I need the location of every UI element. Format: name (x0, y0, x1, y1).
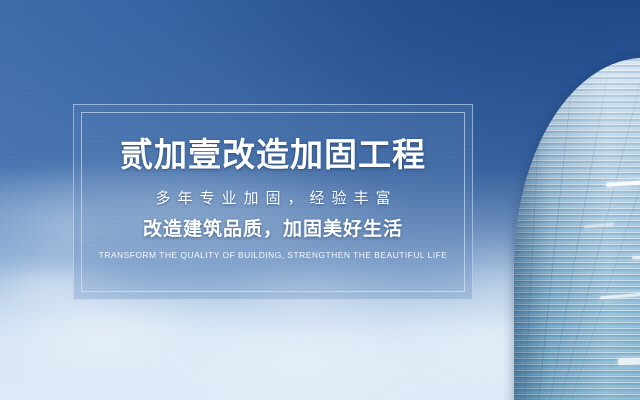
subtitle-text: 多年专业加固，经验丰富 (74, 189, 472, 209)
page-title: 贰加壹改造加固工程 (74, 135, 472, 175)
hero-banner: 贰加壹改造加固工程 多年专业加固，经验丰富 改造建筑品质，加固美好生活 TRAN… (0, 0, 640, 400)
slogan-english-text: TRANSFORM THE QUALITY OF BUILDING, STREN… (74, 249, 472, 261)
skyscraper-photo (480, 0, 640, 400)
skyscraper-body (514, 58, 640, 400)
headline-panel-content: 贰加壹改造加固工程 多年专业加固，经验丰富 改造建筑品质，加固美好生活 TRAN… (74, 135, 472, 261)
slogan-text: 改造建筑品质，加固美好生活 (74, 218, 472, 242)
facade-shading (514, 58, 640, 400)
headline-panel: 贰加壹改造加固工程 多年专业加固，经验丰富 改造建筑品质，加固美好生活 TRAN… (73, 104, 473, 300)
